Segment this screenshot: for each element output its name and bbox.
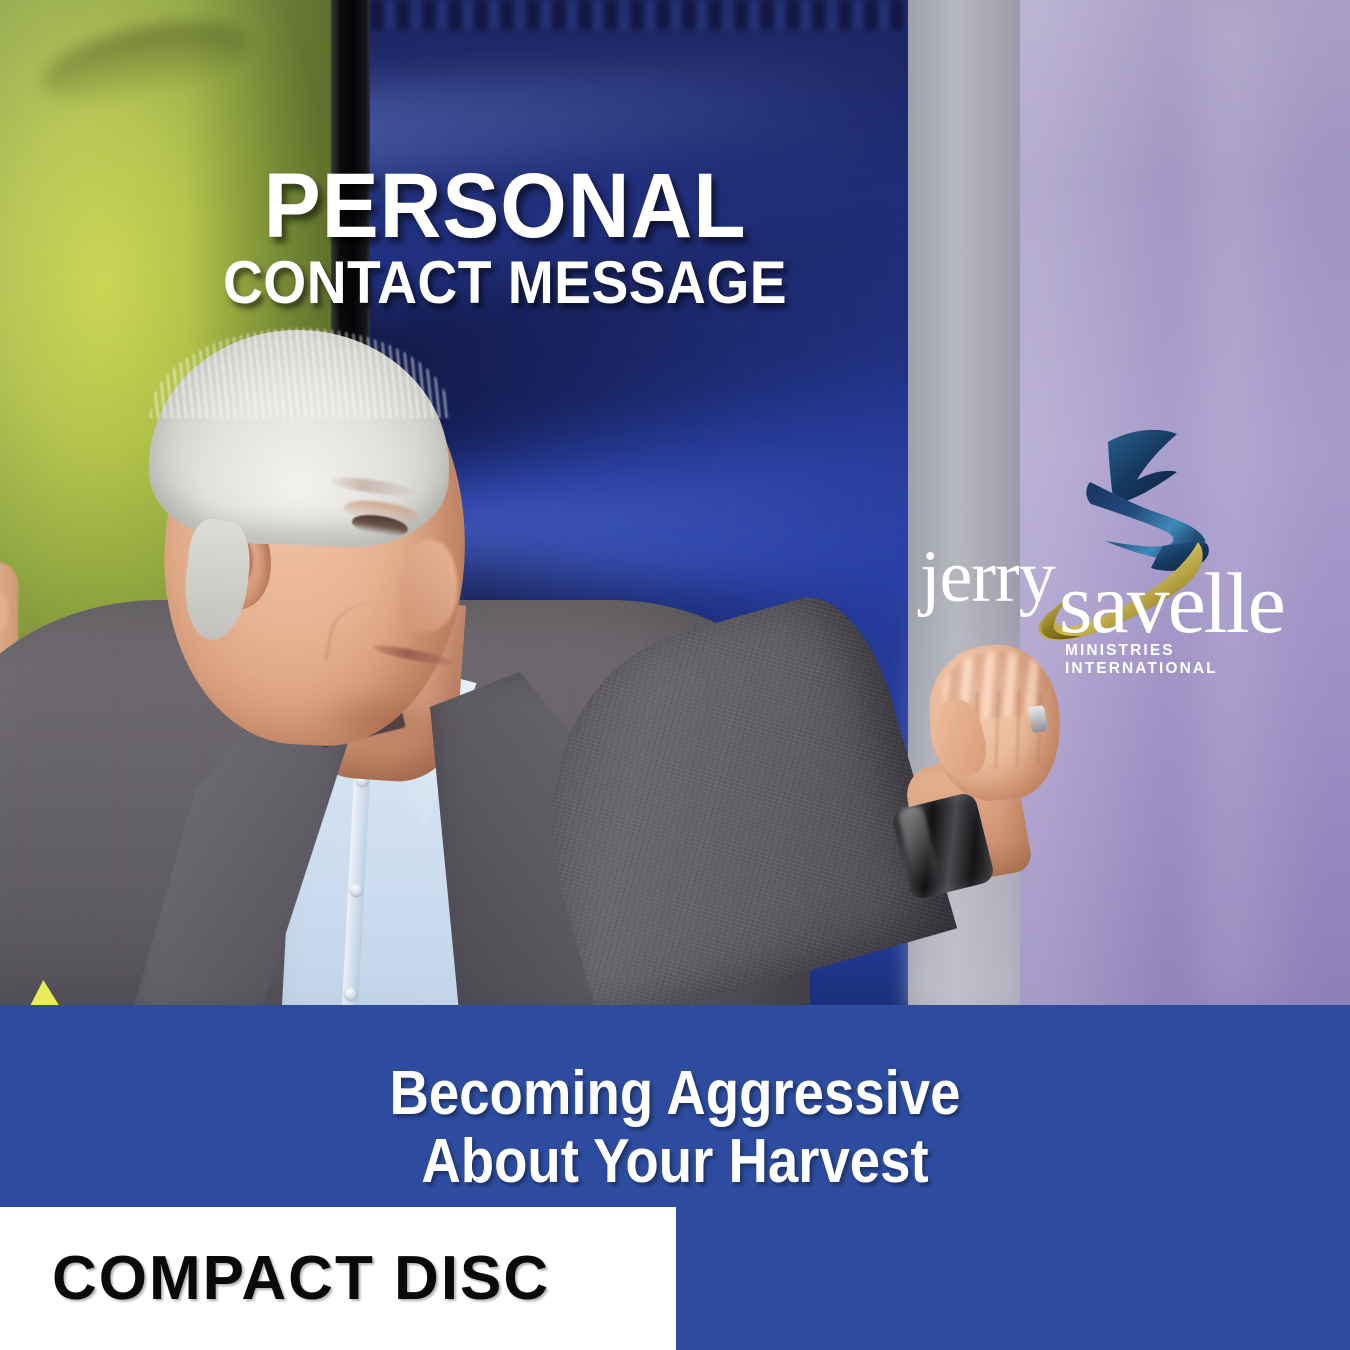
logo-name-last: savelle <box>1059 560 1284 646</box>
ministry-logo: jerry savelle MINISTRIES INTERNATIONAL <box>915 420 1295 665</box>
format-label: COMPACT DISC <box>52 1243 550 1314</box>
sleeve-fold-shadow <box>35 7 255 119</box>
cd-cover-artwork: PERSONAL CONTACT MESSAGE <box>0 0 1350 1350</box>
format-badge: COMPACT DISC <box>0 1207 676 1350</box>
logo-name-first: jerry <box>920 540 1055 614</box>
message-title-line1: Becoming Aggressive <box>81 1063 1269 1125</box>
logo-tagline: MINISTRIES INTERNATIONAL <box>1065 642 1295 678</box>
message-title-line2: About Your Harvest <box>81 1131 1269 1193</box>
subject-hair-highlight <box>150 328 450 418</box>
